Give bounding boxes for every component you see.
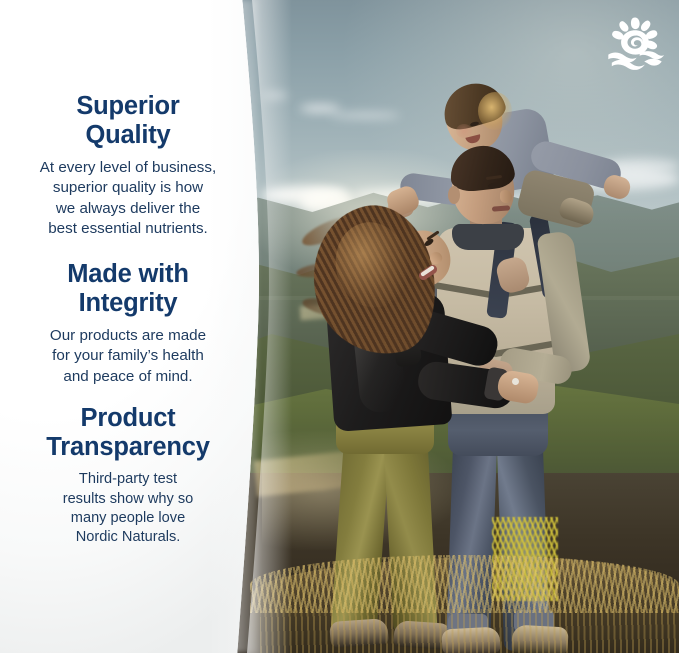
body-line: many people love [71, 510, 185, 526]
block-body: Our products are made for your family’s … [8, 326, 248, 387]
block-heading: Product Transparency [8, 404, 248, 461]
heading-line: Transparency [46, 433, 209, 461]
dry-grass [250, 555, 679, 613]
child-hair-highlight [478, 92, 512, 130]
man-nose [500, 190, 512, 203]
body-line: best essential nutrients. [48, 220, 208, 237]
heading-line: Integrity [79, 289, 178, 317]
body-line: for your family’s health [52, 347, 204, 364]
heading-line: Quality [85, 121, 170, 149]
body-line: Our products are made [50, 327, 206, 344]
heading-line: Product [81, 404, 176, 432]
block-body: At every level of business, superior qua… [8, 158, 248, 239]
value-block-product-transparency: Product Transparency Third-party test re… [8, 404, 248, 548]
advertisement-banner: Superior Quality At every level of busin… [0, 0, 679, 653]
block-heading: Made with Integrity [8, 260, 248, 317]
body-line: results show why so [63, 491, 194, 507]
heading-line: Superior [76, 92, 179, 120]
value-proposition-list: Superior Quality At every level of busin… [0, 0, 268, 653]
body-line: Nordic Naturals. [76, 529, 181, 545]
cloud [330, 112, 400, 119]
block-heading: Superior Quality [8, 92, 248, 149]
block-body: Third-party test results show why so man… [8, 470, 248, 548]
value-block-superior-quality: Superior Quality At every level of busin… [8, 92, 248, 239]
heading-line: Made with [67, 260, 188, 288]
cloud [300, 104, 340, 113]
body-line: Third-party test [79, 471, 177, 487]
value-block-made-with-integrity: Made with Integrity Our products are mad… [8, 260, 248, 387]
body-line: we always deliver the [56, 200, 200, 217]
man-collar [452, 224, 524, 250]
nordic-naturals-logo [606, 16, 664, 70]
woman-ring [512, 378, 519, 385]
body-line: superior quality is how [53, 179, 203, 196]
man-ear [448, 186, 460, 204]
dry-grass-foreground [260, 609, 679, 653]
body-line: At every level of business, [40, 159, 216, 176]
body-line: and peace of mind. [63, 368, 192, 385]
